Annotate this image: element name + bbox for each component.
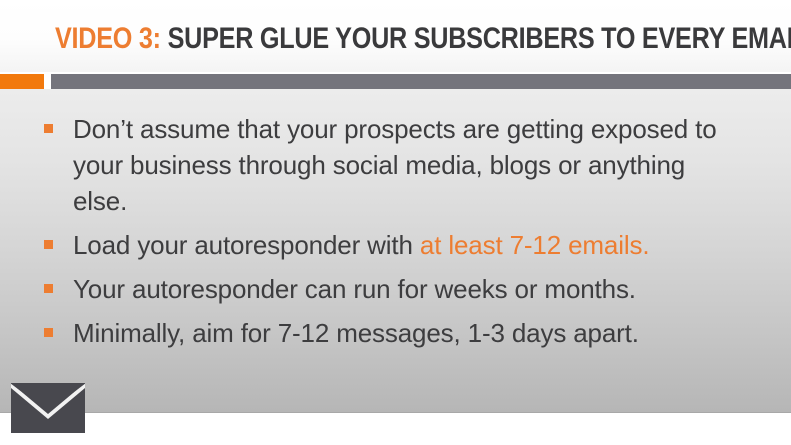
page-title-main: SUPER GLUE YOUR SUBSCRIBERS TO EVERY EMA… xyxy=(168,22,791,55)
list-item-text-plain: Load your autoresponder with xyxy=(73,230,420,260)
envelope-icon xyxy=(11,383,85,433)
page-title-colon: : xyxy=(153,22,161,55)
list-item-text-emphasis: at least 7-12 emails. xyxy=(420,230,650,260)
slide-container: VIDEO 3: SUPER GLUE YOUR SUBSCRIBERS TO … xyxy=(0,0,791,445)
list-item-text-plain: Minimally, aim for 7-12 messages, 1-3 da… xyxy=(73,318,639,348)
list-item: Load your autoresponder with at least 7-… xyxy=(44,227,744,263)
slide-footer xyxy=(0,413,791,445)
list-item: Don’t assume that your prospects are get… xyxy=(44,111,744,219)
bullet-square-icon xyxy=(44,124,53,133)
divider-bar-gray xyxy=(51,74,791,89)
accent-bar-orange xyxy=(0,74,44,89)
list-item-text-plain: Your autoresponder can run for weeks or … xyxy=(73,274,636,304)
list-item-text-plain: Don’t assume that your prospects are get… xyxy=(73,114,717,216)
list-item: Minimally, aim for 7-12 messages, 1-3 da… xyxy=(44,315,744,351)
slide-body: Don’t assume that your prospects are get… xyxy=(0,89,791,413)
page-title: VIDEO 3: SUPER GLUE YOUR SUBSCRIBERS TO … xyxy=(55,22,660,56)
bullet-square-icon xyxy=(44,328,53,337)
list-item-text: Load your autoresponder with at least 7-… xyxy=(73,227,744,263)
bullet-square-icon xyxy=(44,284,53,293)
page-title-prefix: VIDEO 3 xyxy=(55,22,153,55)
list-item-text: Don’t assume that your prospects are get… xyxy=(73,111,744,219)
list-item-text: Your autoresponder can run for weeks or … xyxy=(73,271,744,307)
bullet-square-icon xyxy=(44,240,53,249)
bullet-list: Don’t assume that your prospects are get… xyxy=(44,111,744,359)
list-item: Your autoresponder can run for weeks or … xyxy=(44,271,744,307)
slide-header: VIDEO 3: SUPER GLUE YOUR SUBSCRIBERS TO … xyxy=(0,0,791,72)
list-item-text: Minimally, aim for 7-12 messages, 1-3 da… xyxy=(73,315,744,351)
